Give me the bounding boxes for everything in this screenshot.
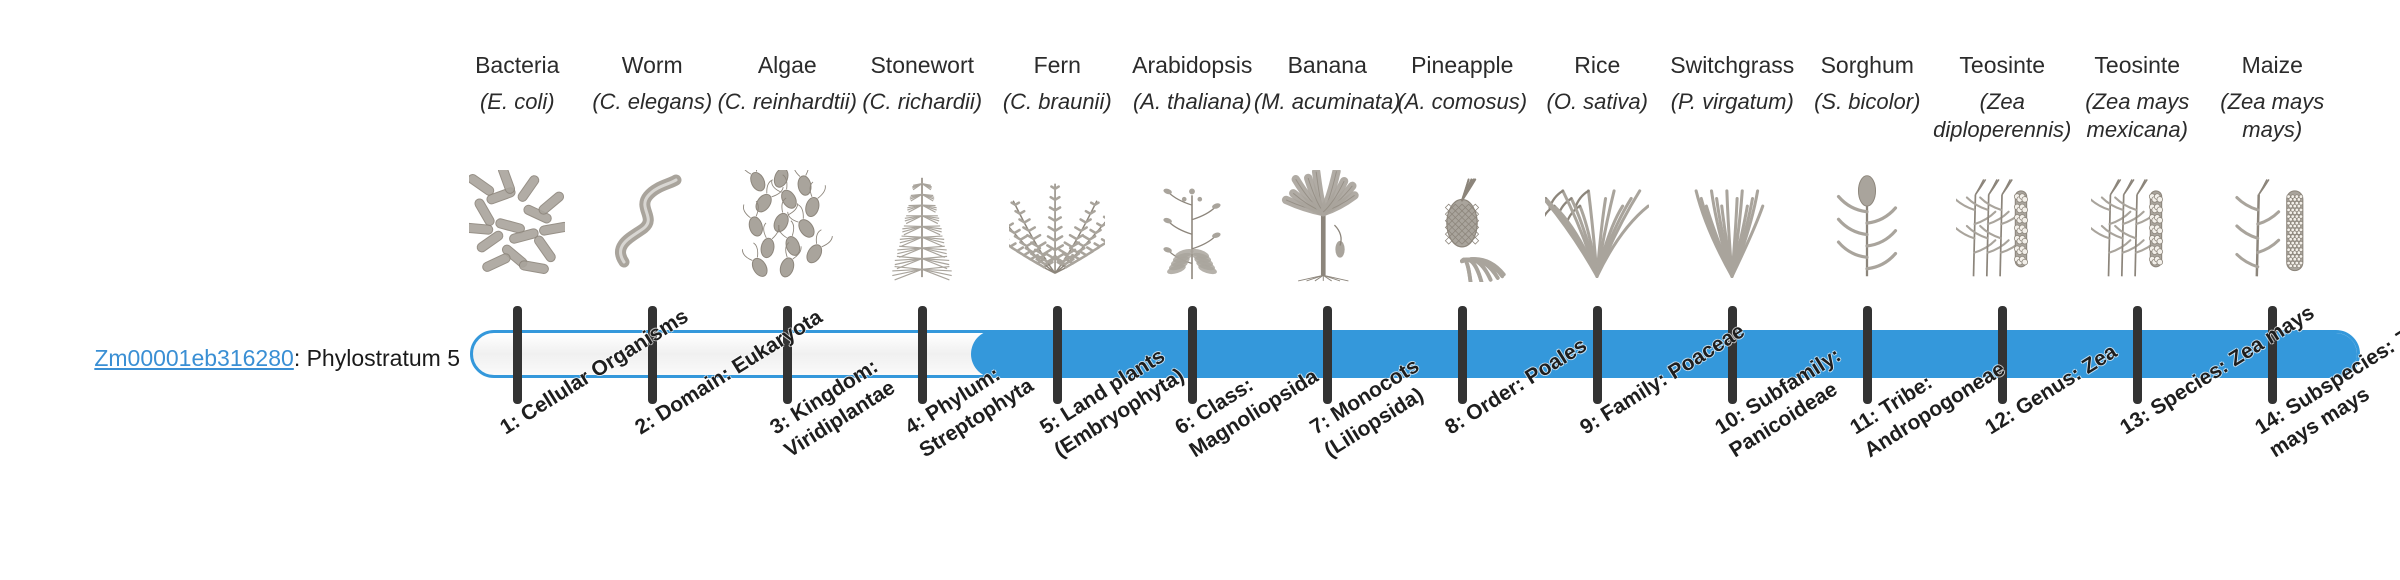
maize-icon: [2197, 172, 2347, 282]
label-separator: :: [294, 345, 307, 371]
species-scientific-name: (E. coli): [442, 88, 592, 116]
species-header-pineapple: Pineapple(A. comosus): [1387, 50, 1537, 116]
phylostratum-figure: Zm00001eb316280: Phylostratum 5 Bacteria…: [0, 0, 2400, 580]
species-header-sorghum: Sorghum(S. bicolor): [1792, 50, 1942, 116]
species-scientific-name: (C. reinhardtii): [712, 88, 862, 116]
species-header-arabidopsis: Arabidopsis(A. thaliana): [1117, 50, 1267, 116]
algae-icon: [712, 172, 862, 282]
taxonomy-index: 6:: [1171, 410, 1199, 439]
species-scientific-name: (Zea mays mexicana): [2062, 88, 2212, 144]
species-header-algae: Algae(C. reinhardtii): [712, 50, 862, 116]
species-header-bacteria: Bacteria(E. coli): [442, 50, 592, 116]
species-scientific-name: (A. thaliana): [1117, 88, 1267, 116]
taxonomy-index: 2:: [631, 410, 659, 439]
arabidopsis-icon: [1117, 172, 1267, 282]
stonewort-icon: [847, 172, 997, 282]
teosinte-diplo-icon: [1927, 172, 2077, 282]
tick-mark-1: [513, 306, 522, 404]
taxonomy-index: 12:: [1981, 404, 2019, 440]
taxonomy-rank: Class: Magnoliopsida: [1186, 365, 1323, 462]
species-scientific-name: (C. elegans): [577, 88, 727, 116]
species-common-name: Worm: [577, 50, 727, 80]
switchgrass-icon: [1657, 172, 1807, 282]
taxonomy-index: 8:: [1441, 410, 1469, 439]
species-common-name: Maize: [2197, 50, 2347, 80]
species-header-rice: Rice(O. sativa): [1522, 50, 1672, 116]
taxonomy-index: 4:: [901, 410, 929, 439]
taxonomy-index: 5:: [1036, 410, 1064, 439]
species-common-name: Teosinte: [1927, 50, 2077, 80]
species-common-name: Banana: [1252, 50, 1402, 80]
worm-icon: [577, 172, 727, 282]
gene-id-link[interactable]: Zm00001eb316280: [94, 345, 294, 371]
sorghum-icon: [1792, 172, 1942, 282]
rice-icon: [1522, 172, 1672, 282]
species-header-teosinte: Teosinte(Zea mays mexicana): [2062, 50, 2212, 144]
species-header-banana: Banana(M. acuminata): [1252, 50, 1402, 116]
species-common-name: Stonewort: [847, 50, 997, 80]
teosinte-mex-icon: [2062, 172, 2212, 282]
species-scientific-name: (Zea mays mays): [2197, 88, 2347, 144]
taxonomy-index: 1:: [496, 410, 524, 439]
species-scientific-name: (O. sativa): [1522, 88, 1672, 116]
species-common-name: Algae: [712, 50, 862, 80]
species-scientific-name: (A. comosus): [1387, 88, 1537, 116]
species-header-worm: Worm(C. elegans): [577, 50, 727, 116]
species-scientific-name: (C. braunii): [982, 88, 1132, 116]
species-header-switchgrass: Switchgrass(P. virgatum): [1657, 50, 1807, 116]
taxonomy-index: 7:: [1306, 410, 1334, 439]
pineapple-icon: [1387, 172, 1537, 282]
species-common-name: Arabidopsis: [1117, 50, 1267, 80]
species-scientific-name: (C. richardii): [847, 88, 997, 116]
species-header-maize: Maize(Zea mays mays): [2197, 50, 2347, 144]
species-scientific-name: (S. bicolor): [1792, 88, 1942, 116]
species-common-name: Pineapple: [1387, 50, 1537, 80]
taxonomy-index: 3:: [766, 410, 794, 439]
fern-icon: [982, 172, 1132, 282]
species-common-name: Teosinte: [2062, 50, 2212, 80]
species-common-name: Fern: [982, 50, 1132, 80]
species-scientific-name: (M. acuminata): [1252, 88, 1402, 116]
species-header-fern: Fern(C. braunii): [982, 50, 1132, 116]
bacteria-icon: [442, 172, 592, 282]
taxonomy-index: 9:: [1576, 410, 1604, 439]
species-common-name: Bacteria: [442, 50, 592, 80]
species-scientific-name: (P. virgatum): [1657, 88, 1807, 116]
row-label: Zm00001eb316280: Phylostratum 5: [30, 345, 460, 372]
species-common-name: Rice: [1522, 50, 1672, 80]
species-header-teosinte: Teosinte(Zea diploperennis): [1927, 50, 2077, 144]
banana-icon: [1252, 172, 1402, 282]
species-header-stonewort: Stonewort(C. richardii): [847, 50, 997, 116]
species-common-name: Switchgrass: [1657, 50, 1807, 80]
stratum-value: Phylostratum 5: [307, 345, 460, 371]
species-common-name: Sorghum: [1792, 50, 1942, 80]
species-scientific-name: (Zea diploperennis): [1927, 88, 2077, 144]
taxonomy-index: 13:: [2116, 404, 2154, 440]
